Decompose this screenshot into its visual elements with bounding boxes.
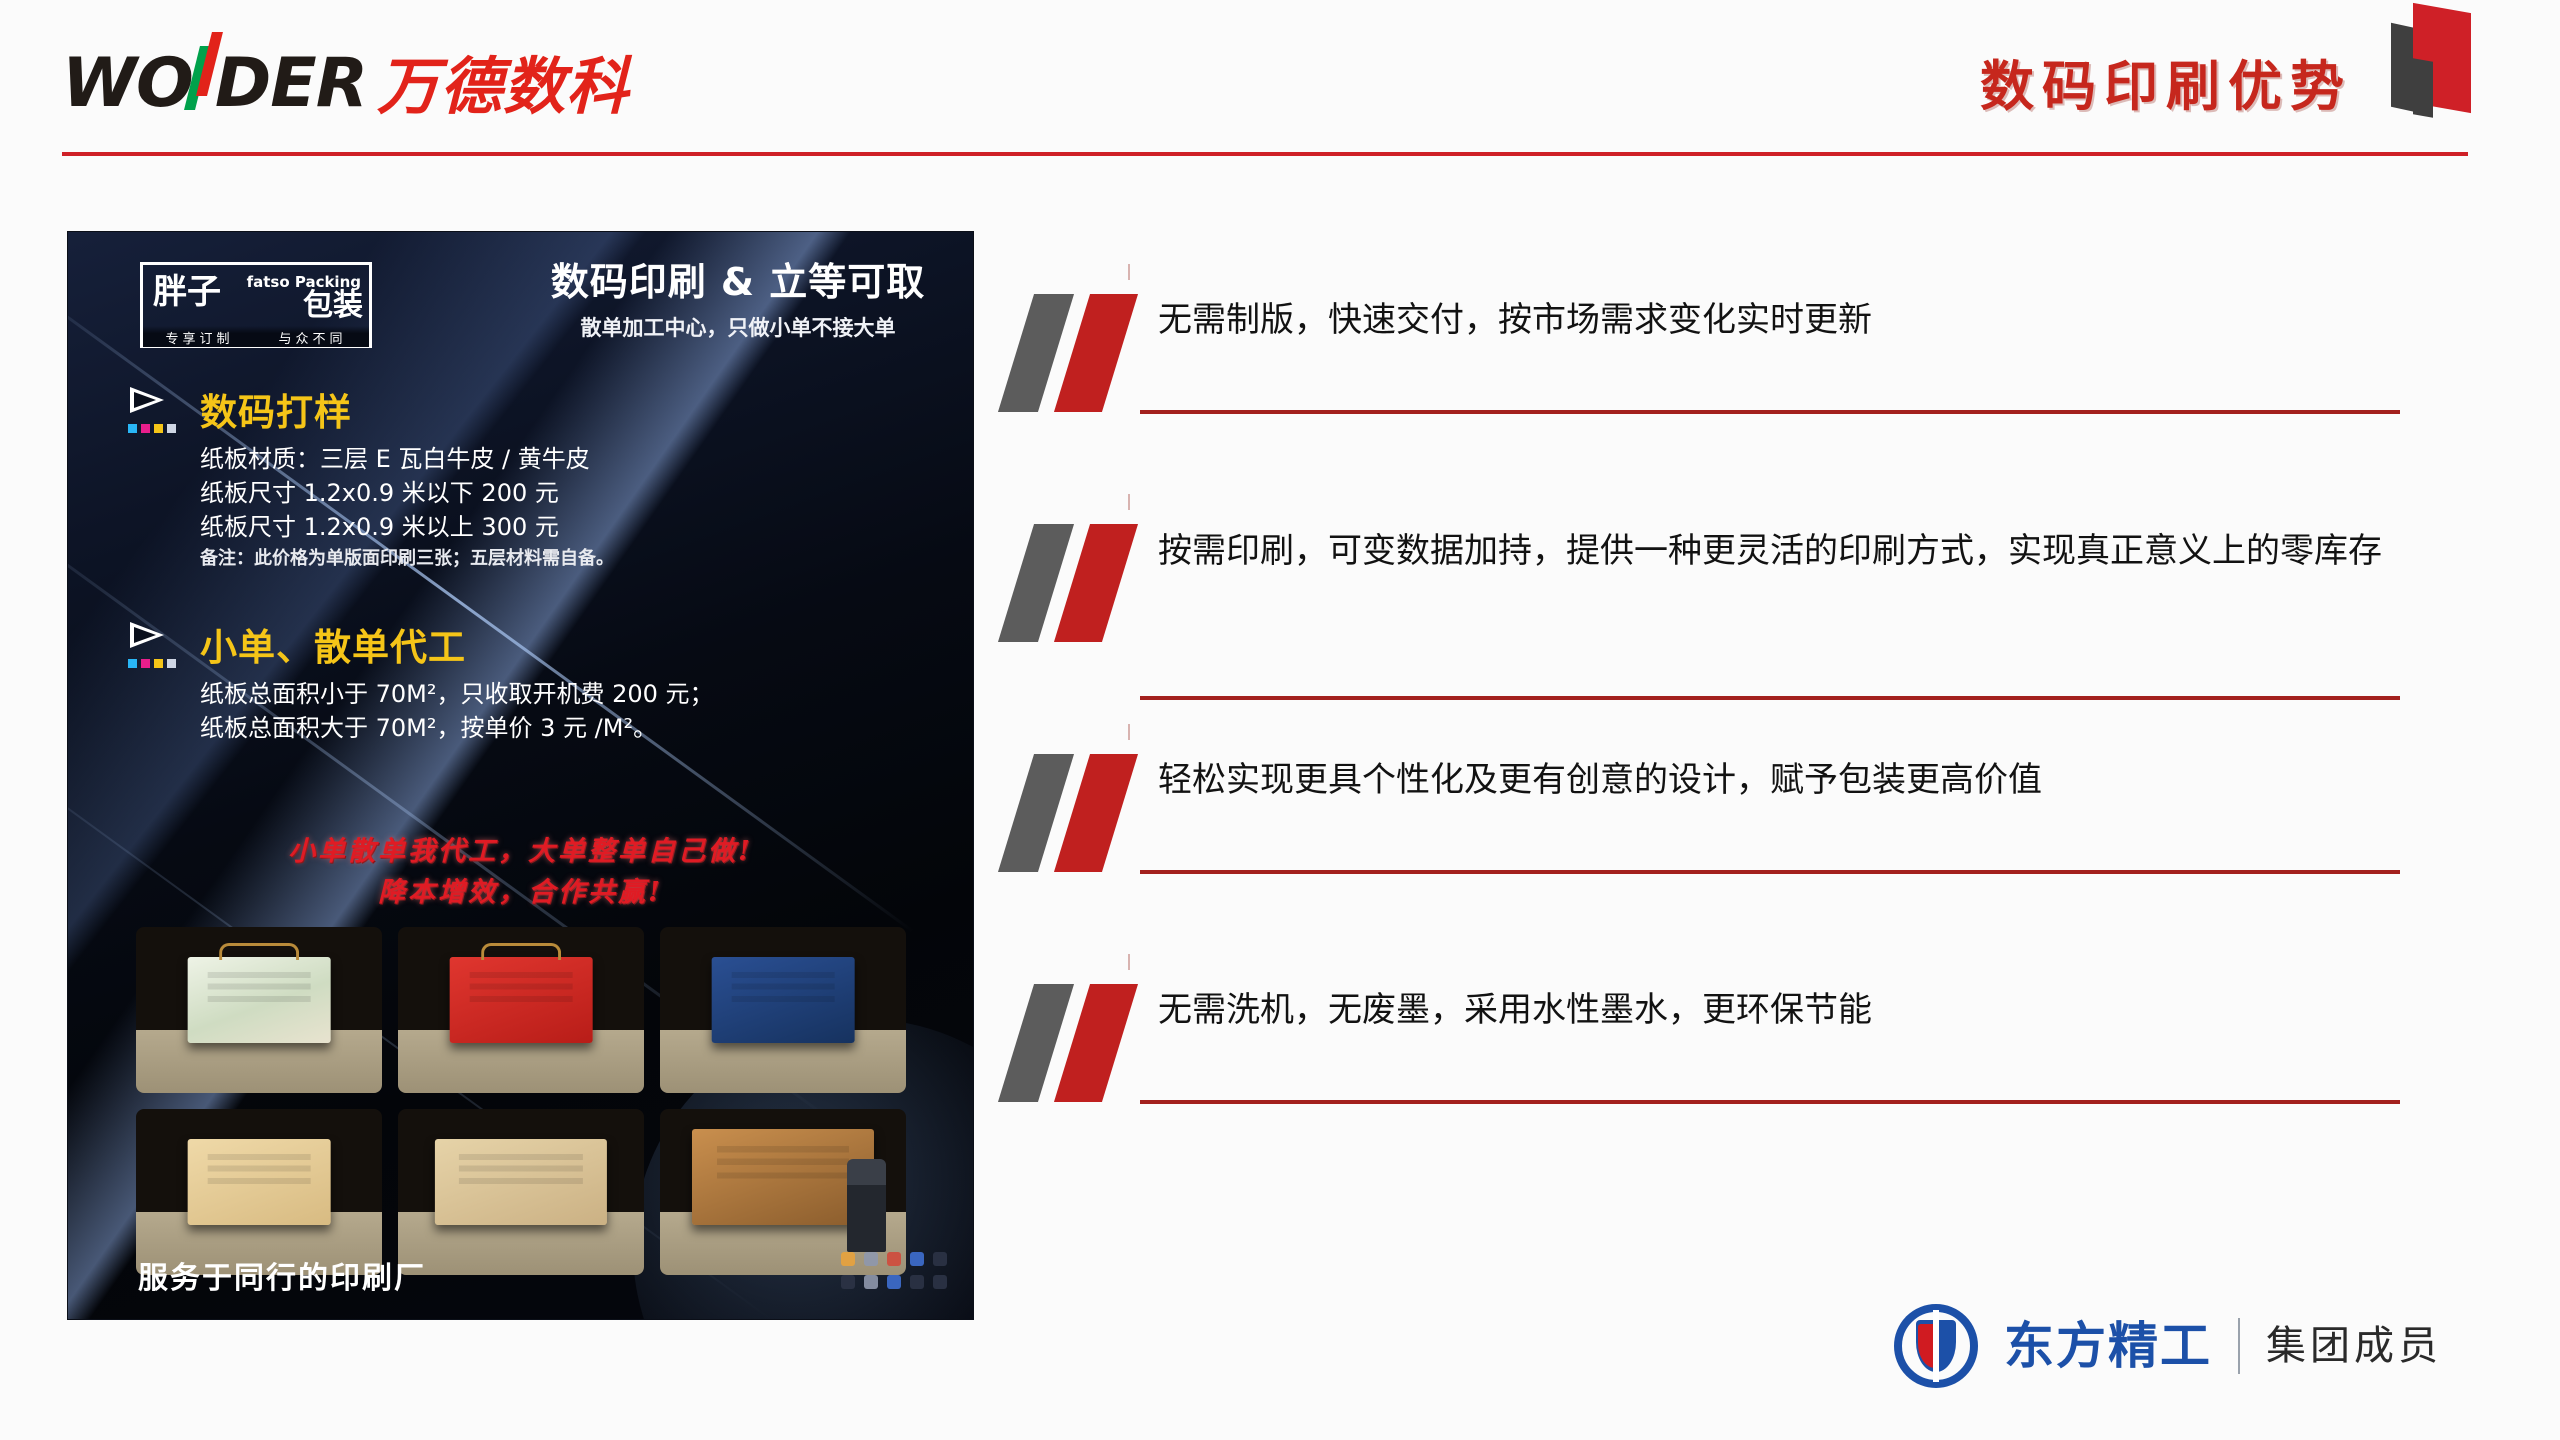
- footer-company-name: 东方精工: [2004, 1321, 2212, 1371]
- poster-photo: [660, 927, 906, 1093]
- poster-section-line: 纸板总面积大于 70M²，按单价 3 元 /M²。: [200, 711, 928, 745]
- photo-box-handle: [219, 943, 299, 960]
- corner-accent-icon: [2391, 8, 2487, 116]
- promo-poster: 胖子 fatso Packing 包装 专享订制 与众不同 数码印刷 & 立等可…: [68, 232, 973, 1319]
- poster-section-body: 纸板材质：三层 E 瓦白牛皮 / 黄牛皮 纸板尺寸 1.2x0.9 米以下 20…: [200, 442, 928, 571]
- photo-box-handle: [481, 943, 561, 960]
- chevron-shape: [130, 622, 164, 648]
- photo-person: [847, 1159, 886, 1252]
- footer-divider: [2238, 1318, 2240, 1374]
- poster-section-line: 纸板尺寸 1.2x0.9 米以下 200 元: [200, 476, 928, 510]
- photo-box: [188, 957, 331, 1043]
- advantage-text: 轻松实现更具个性化及更有创意的设计，赋予包装更高价值: [1158, 754, 2428, 807]
- advantage-text: 无需制版，快速交付，按市场需求变化实时更新: [1158, 294, 2428, 347]
- advantage-item: 无需制版，快速交付，按市场需求变化实时更新: [1010, 270, 2480, 500]
- advantage-underline: [1140, 870, 2400, 874]
- poster-slogan: 小单散单我代工，大单整单自己做! 降本增效，合作共赢!: [68, 832, 973, 913]
- photo-print-art: [732, 972, 835, 1015]
- bullet-tick-decor: [1128, 494, 1130, 510]
- poster-slogan-line-2: 降本增效，合作共赢!: [68, 873, 973, 914]
- bullet-marker-icon: [1010, 524, 1170, 642]
- poster-dot: [841, 1252, 855, 1266]
- corner-accent-dark-inner: [2413, 58, 2433, 118]
- dongfang-shield-icon: [1894, 1304, 1978, 1388]
- cmyk-dot-yellow: [154, 659, 163, 668]
- poster-subheadline: 散单加工中心，只做小单不接大单: [538, 312, 938, 342]
- poster-section-note: 备注：此价格为单版面印刷三张；五层材料需自备。: [200, 546, 928, 571]
- chevron-shape: [130, 387, 164, 413]
- poster-dot-pattern-decor: [841, 1252, 949, 1291]
- wonder-logo-n-slash-icon: [191, 36, 217, 106]
- chevron-arrow-icon: [128, 385, 186, 433]
- page-header: WO DER 万德数科 数码印刷优势: [0, 0, 2560, 175]
- cmyk-dots-icon: [128, 424, 176, 433]
- photo-box: [450, 957, 593, 1043]
- poster-headline: 数码印刷 & 立等可取: [538, 262, 938, 304]
- poster-slogan-line-1: 小单散单我代工，大单整单自己做!: [68, 832, 973, 873]
- wonder-logo-word-tail: DER: [215, 50, 367, 118]
- poster-section-line: 纸板材质：三层 E 瓦白牛皮 / 黄牛皮: [200, 442, 928, 476]
- poster-dot: [887, 1275, 901, 1289]
- cmyk-dot-cyan: [128, 424, 137, 433]
- photo-print-art: [208, 1154, 311, 1197]
- advantage-underline: [1140, 410, 2400, 414]
- poster-section-title: 数码打样: [200, 382, 352, 436]
- footer-group-logo: 东方精工 集团成员: [1894, 1304, 2442, 1388]
- advantage-item: 轻松实现更具个性化及更有创意的设计，赋予包装更高价值: [1010, 730, 2480, 960]
- poster-photo: [660, 1109, 906, 1275]
- poster-photo: [136, 927, 382, 1093]
- poster-dot: [933, 1275, 947, 1289]
- photo-print-art: [717, 1146, 848, 1194]
- poster-photo: [398, 927, 644, 1093]
- page-title: 数码印刷优势: [1980, 42, 2352, 121]
- bullet-marker-icon: [1010, 294, 1170, 412]
- photo-print-art: [470, 972, 573, 1015]
- poster-section-header: 数码打样: [128, 382, 928, 436]
- cmyk-dot-key: [167, 659, 176, 668]
- fatso-tagline-right: 与众不同: [278, 328, 346, 347]
- fatso-brand-logo: 胖子 fatso Packing 包装 专享订制 与众不同: [140, 262, 372, 348]
- poster-section-line: 纸板总面积小于 70M²，只收取开机费 200 元；: [200, 677, 928, 711]
- bullet-tick-decor: [1128, 264, 1130, 280]
- poster-dot: [933, 1252, 947, 1266]
- poster-section-title: 小单、散单代工: [200, 617, 466, 671]
- wonder-logo-word-lead: WO: [62, 50, 193, 118]
- cmyk-dot-cyan: [128, 659, 137, 668]
- poster-dot: [910, 1252, 924, 1266]
- fatso-brand-taglines: 专享订制 与众不同: [143, 326, 369, 347]
- fatso-brand-cn2: 包装: [303, 291, 363, 321]
- poster-section-digital-proofing: 数码打样 纸板材质：三层 E 瓦白牛皮 / 黄牛皮 纸板尺寸 1.2x0.9 米…: [128, 382, 928, 571]
- wonder-logo-wordmark: WO DER: [62, 36, 367, 118]
- photo-box: [188, 1139, 331, 1225]
- bullet-tick-decor: [1128, 954, 1130, 970]
- poster-section-body: 纸板总面积小于 70M²，只收取开机费 200 元； 纸板总面积大于 70M²，…: [200, 677, 928, 745]
- poster-headline-block: 数码印刷 & 立等可取 散单加工中心，只做小单不接大单: [538, 262, 938, 342]
- chevron-arrow-icon: [128, 620, 186, 668]
- photo-box: [435, 1139, 607, 1225]
- poster-dot: [864, 1252, 878, 1266]
- photo-box: [712, 957, 855, 1043]
- cmyk-dot-magenta: [141, 424, 150, 433]
- cmyk-dot-yellow: [154, 424, 163, 433]
- advantage-underline: [1140, 1100, 2400, 1104]
- poster-dot: [841, 1275, 855, 1289]
- header-divider: [62, 152, 2468, 156]
- poster-section-small-order-oem: 小单、散单代工 纸板总面积小于 70M²，只收取开机费 200 元； 纸板总面积…: [128, 617, 928, 745]
- advantage-item: 无需洗机，无废墨，采用水性墨水，更环保节能: [1010, 960, 2480, 1190]
- fatso-tagline-left: 专享订制: [165, 328, 233, 347]
- poster-caption: 服务于同行的印刷厂: [138, 1253, 426, 1297]
- advantage-text: 按需印刷，可变数据加持，提供一种更灵活的印刷方式，实现真正意义上的零库存: [1158, 524, 2428, 578]
- advantage-underline: [1140, 696, 2400, 700]
- poster-dot: [887, 1252, 901, 1266]
- advantage-text: 无需洗机，无废墨，采用水性墨水，更环保节能: [1158, 984, 2428, 1037]
- wonder-logo-chinese: 万德数科: [377, 56, 629, 118]
- photo-print-art: [208, 972, 311, 1015]
- photo-print-art: [459, 1154, 583, 1197]
- poster-photo: [398, 1109, 644, 1275]
- bullet-tick-decor: [1128, 724, 1130, 740]
- wonder-logo: WO DER 万德数科: [62, 38, 629, 118]
- poster-dot: [910, 1275, 924, 1289]
- poster-section-line: 纸板尺寸 1.2x0.9 米以上 300 元: [200, 510, 928, 544]
- cmyk-dot-key: [167, 424, 176, 433]
- poster-section-header: 小单、散单代工: [128, 617, 928, 671]
- poster-photo-grid: [136, 927, 906, 1275]
- poster-photo: [136, 1109, 382, 1275]
- advantages-list: 无需制版，快速交付，按市场需求变化实时更新 按需印刷，可变数据加持，提供一种更灵…: [1010, 270, 2480, 1190]
- cmyk-dot-magenta: [141, 659, 150, 668]
- bullet-marker-icon: [1010, 754, 1170, 872]
- bullet-marker-icon: [1010, 984, 1170, 1102]
- fatso-brand-cn: 胖子: [153, 275, 221, 309]
- shield-bar: [1933, 1310, 1939, 1382]
- cmyk-dots-icon: [128, 659, 176, 668]
- advantage-item: 按需印刷，可变数据加持，提供一种更灵活的印刷方式，实现真正意义上的零库存: [1010, 500, 2480, 730]
- footer-membership-label: 集团成员: [2266, 1326, 2442, 1366]
- poster-dot: [864, 1275, 878, 1289]
